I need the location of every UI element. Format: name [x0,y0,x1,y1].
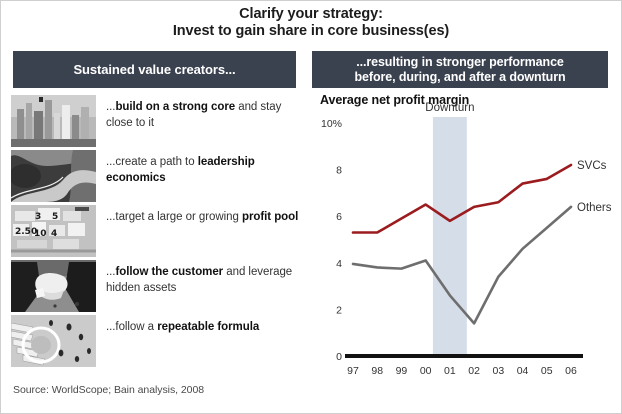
svg-text:10: 10 [34,229,47,239]
title-line-1: Clarify your strategy: [239,6,383,22]
title-line-2: Invest to gain share in core business(es… [1,23,621,40]
x-axis-line [345,354,583,358]
spiral-staircase-photo [11,315,96,367]
list-item-label: ...follow a repeatable formula [106,315,259,336]
y-axis-tick-label: 10% [321,118,342,130]
x-axis-tick-label: 02 [468,365,480,377]
source-note: Source: WorldScope; Bain analysis, 2008 [13,384,204,396]
y-axis-tick-label: 6 [336,211,342,223]
net-profit-margin-line-chart: Downturn0246810%97989900010203040506SVCs… [312,93,612,393]
y-axis-tick-label: 2 [336,304,342,316]
svg-text:3: 3 [35,212,41,222]
list-item: ...create a path to leadership economics [11,150,306,202]
list-item: ...follow a repeatable formula [11,315,306,367]
slide-frame: Clarify your strategy: Invest to gain sh… [0,0,622,414]
list-item: ...follow the customer and leverage hidd… [11,260,306,312]
list-item: 2.50 3 5 10 4 ...target a large or growi… [11,205,306,257]
list-item-label: ...target a large or growing profit pool [106,205,298,226]
downturn-annotation-label: Downturn [425,102,474,114]
header-bar-left: Sustained value creators... [13,51,296,88]
x-axis-tick-label: 04 [517,365,529,377]
header-right-line-2: before, during, and after a downturn [355,70,566,85]
x-axis-tick-label: 97 [347,365,359,377]
header-left-label: Sustained value creators... [73,62,235,77]
list-item-label: ...follow the customer and leverage hidd… [106,260,306,296]
chart-panel: Average net profit margin Downturn024681… [312,93,612,393]
svg-text:4: 4 [51,229,57,239]
series-label-others: Others [577,202,612,214]
x-axis-tick-label: 01 [444,365,456,377]
y-axis-tick-label: 0 [336,351,342,363]
x-axis-tick-label: 99 [396,365,408,377]
x-axis-tick-label: 05 [541,365,553,377]
svg-text:5: 5 [52,212,58,222]
series-label-svcs: SVCs [577,160,607,172]
header-right-line-1: ...resulting in stronger performance [355,55,566,70]
y-axis-tick-label: 8 [336,165,342,177]
value-creator-list: ...build on a strong core and stay close… [11,95,306,370]
header-bar-right: ...resulting in stronger performance bef… [312,51,608,88]
list-item: ...build on a strong core and stay close… [11,95,306,147]
downturn-shaded-band [433,117,467,356]
winding-road-photo [11,150,96,202]
list-item-label: ...create a path to leadership economics [106,150,306,186]
x-axis-tick-label: 06 [565,365,577,377]
city-skyline-photo [11,95,96,147]
x-axis-tick-label: 03 [492,365,504,377]
market-price-signs-photo: 2.50 3 5 10 4 [11,205,96,257]
list-item-label: ...build on a strong core and stay close… [106,95,306,131]
x-axis-tick-label: 98 [371,365,383,377]
handshake-photo [11,260,96,312]
page-title: Clarify your strategy: Invest to gain sh… [1,6,621,40]
x-axis-tick-label: 00 [420,365,432,377]
y-axis-tick-label: 4 [336,258,342,270]
